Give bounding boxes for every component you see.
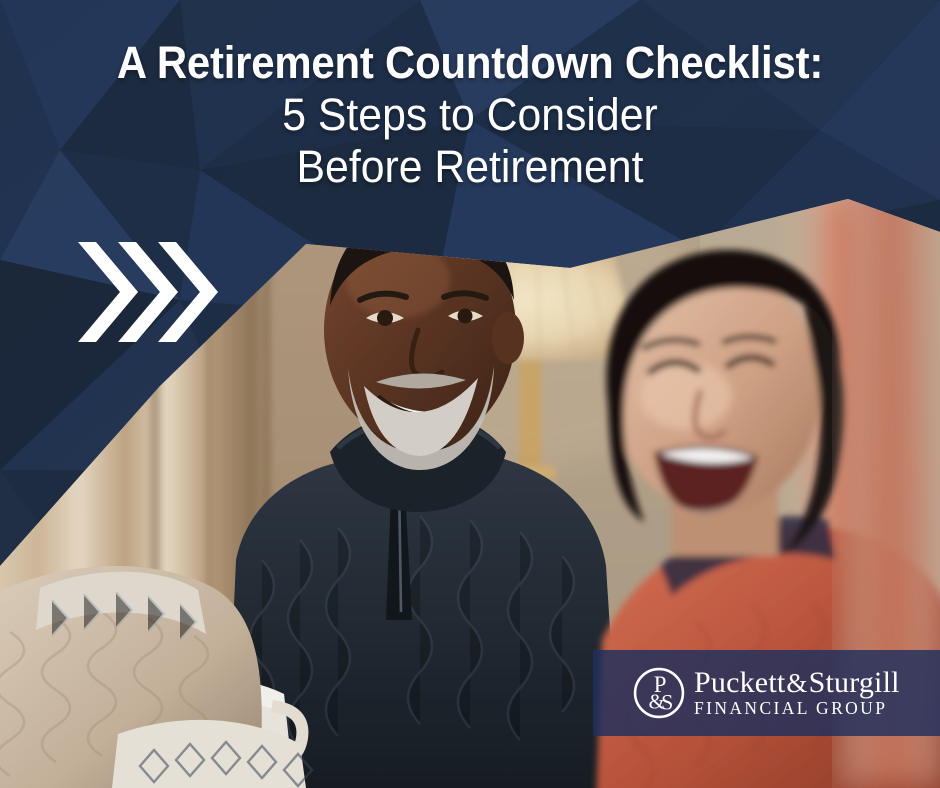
promo-graphic: A Retirement Countdown Checklist: 5 Step… bbox=[0, 0, 940, 788]
brand-subtitle: FINANCIAL GROUP bbox=[694, 699, 900, 717]
puckett-sturgill-monogram-icon: P & S bbox=[633, 667, 685, 719]
brand-ampersand: & bbox=[785, 668, 808, 698]
double-chevron-right-icon bbox=[78, 236, 258, 348]
brand-name: Puckett&Sturgill bbox=[694, 668, 900, 698]
brand-logo-bar[interactable]: P & S Puckett&Sturgill FINANCIAL GROUP bbox=[593, 650, 940, 736]
svg-text:S: S bbox=[661, 691, 673, 715]
brand-name-part2: Sturgill bbox=[809, 666, 900, 699]
brand-name-part1: Puckett bbox=[694, 666, 785, 699]
